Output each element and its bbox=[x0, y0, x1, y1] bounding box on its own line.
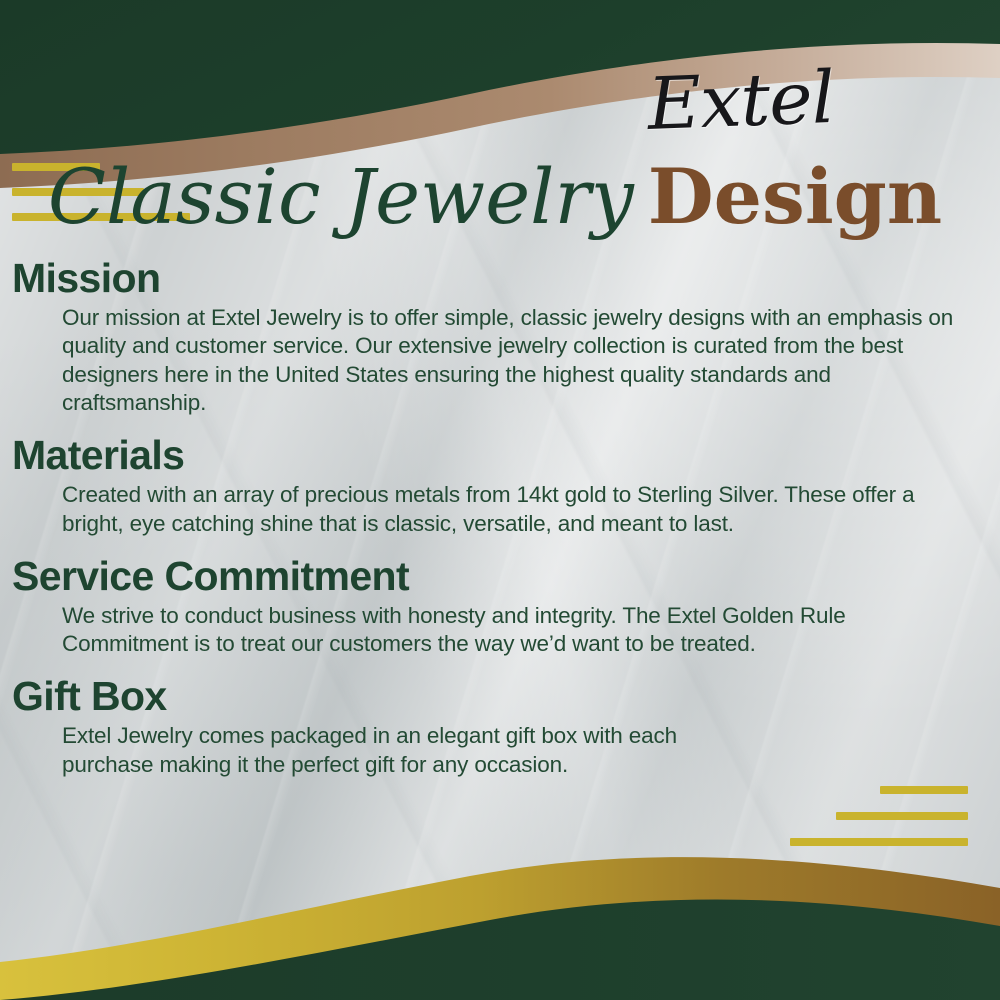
page-title-design: Design bbox=[648, 152, 942, 241]
section-body: Created with an array of precious metals… bbox=[62, 481, 974, 538]
section-body: Extel Jewelry comes packaged in an elega… bbox=[62, 722, 760, 779]
page-title-classic-jewelry: Classic Jewelry bbox=[48, 152, 634, 241]
section-heading: Service Commitment bbox=[12, 554, 1000, 600]
content-sections: Mission Our mission at Extel Jewelry is … bbox=[0, 256, 1000, 779]
gold-line bbox=[880, 786, 968, 794]
section-gift-box: Gift Box Extel Jewelry comes packaged in… bbox=[0, 674, 1000, 779]
poster-canvas: Extel Classic JewelryDesign Mission Our … bbox=[0, 0, 1000, 1000]
section-materials: Materials Created with an array of preci… bbox=[0, 433, 1000, 538]
gold-line bbox=[836, 812, 968, 820]
gold-line bbox=[790, 838, 968, 846]
section-body: Our mission at Extel Jewelry is to offer… bbox=[62, 304, 974, 417]
brand-logo-extel: Extel bbox=[647, 61, 836, 140]
section-heading: Gift Box bbox=[12, 674, 1000, 720]
gold-accent-lines-bottom-right bbox=[790, 786, 968, 864]
section-mission: Mission Our mission at Extel Jewelry is … bbox=[0, 256, 1000, 417]
section-service-commitment: Service Commitment We strive to conduct … bbox=[0, 554, 1000, 659]
page-title: Classic JewelryDesign bbox=[0, 152, 1000, 241]
section-body: We strive to conduct business with hones… bbox=[62, 602, 974, 659]
section-heading: Mission bbox=[12, 256, 1000, 302]
section-heading: Materials bbox=[12, 433, 1000, 479]
